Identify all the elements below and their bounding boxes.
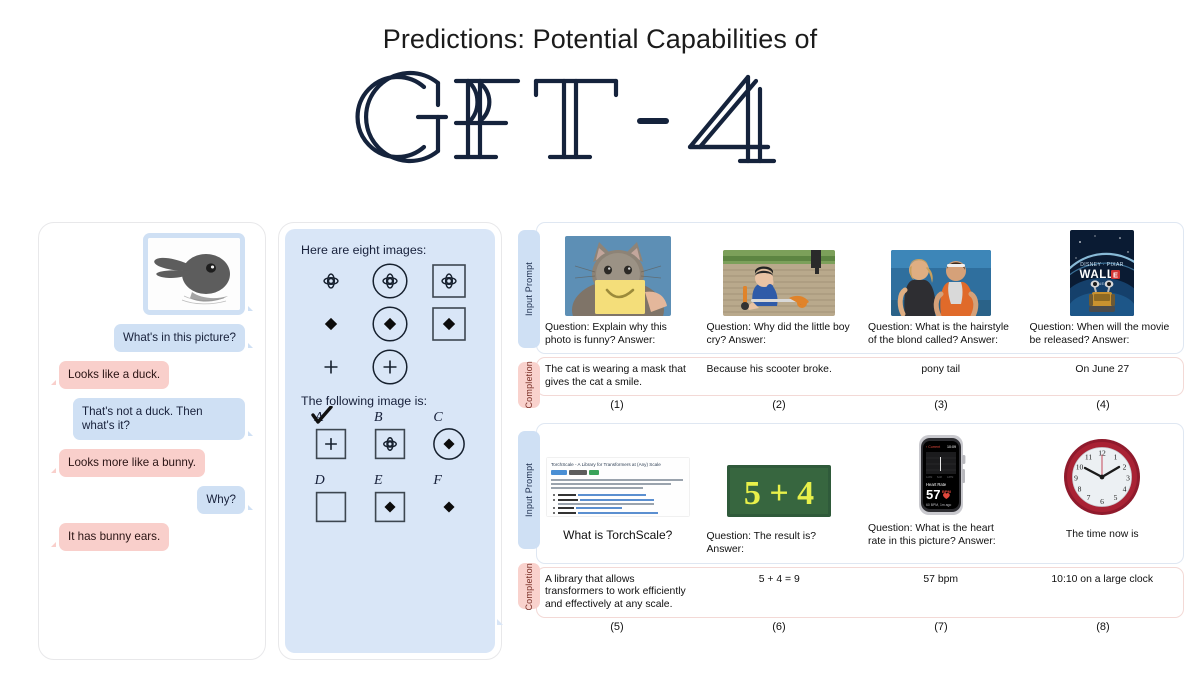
prompt-row: TorchScale - A Library for Transformers … [536,423,1184,563]
example-numbers-row: (1) (2) (3) (4) [536,397,1184,411]
example-number: (3) [860,397,1022,411]
example-number: (8) [1022,619,1184,633]
completion-label: Completion [524,563,534,611]
svg-text:2: 2 [1123,463,1127,472]
matrix-cell [370,302,410,345]
svg-text:4: 4 [1123,485,1127,494]
example-cell: ‹ Current 10:09 12AM6AM12PM Heart Rate [860,424,1022,562]
svg-text:3: 3 [1126,474,1130,483]
input-prompt-label: Input Prompt [524,463,534,517]
chat-message-bot: Looks more like a bunny. [59,449,205,477]
thumbnail-slot: ‹ Current 10:09 12AM6AM12PM Heart Rate [868,431,1014,517]
wall-e-movie-poster-image: DISNEY · PIXAR WALL E JUNE 27 [1070,230,1134,316]
prompt-text: Question: Why did the little boy cry? An… [707,322,853,347]
matrix-option-e[interactable]: E [372,473,408,530]
prompt-text: The time now is [1030,529,1176,542]
page-title: Predictions: Potential Capabilities of [0,0,1200,55]
example-cell: TorchScale - A Library for Transformers … [537,424,699,562]
matrix-options-row-1: ABC [301,410,479,467]
watch-bpm-value: 57 [926,487,940,502]
option-letter: A [315,410,349,426]
svg-text:12PM: 12PM [947,476,953,479]
prompt-text: Question: What is the heart rate in this… [868,523,1014,548]
cat-with-smiley-note-image [565,236,671,316]
red-wall-clock-image: 12 1 2 3 4 5 6 7 8 9 10 [1062,437,1142,517]
svg-text:E: E [1113,270,1118,279]
matrix-cell [311,345,351,388]
chat-message-bot: Looks like a duck. [59,361,169,389]
example-number: (7) [860,619,1022,633]
thumbnail-slot [707,230,853,316]
example-cell: Question: Why did the little boy cry? An… [699,223,861,353]
completion-row: The cat is wearing a mask that gives the… [536,357,1184,396]
example-cell: Question: Explain why this photo is funn… [537,223,699,353]
matrix-question-label: The following image is: [301,394,479,408]
svg-text:6AM: 6AM [937,476,942,479]
watch-time: 10:09 [947,445,956,449]
completion-text: On June 27 [1022,358,1184,395]
example-cell: DISNEY · PIXAR WALL E JUNE 27 [1022,223,1184,353]
thumbnail-slot: DISNEY · PIXAR WALL E JUNE 27 [1030,230,1176,316]
svg-text:WALL: WALL [1080,269,1115,281]
matrix-cell [311,302,351,345]
example-number: (1) [536,397,698,411]
svg-text:12AM: 12AM [926,476,932,479]
chat-message-user: What's in this picture? [114,324,245,352]
matrix-cell [429,259,469,302]
matrix-option-b[interactable]: B [372,410,408,467]
apple-watch-heart-rate-image: ‹ Current 10:09 12AM6AM12PM Heart Rate [907,433,975,517]
matrix-puzzle-panel: Here are eight images: The following ima… [278,222,502,660]
prompt-text: Question: What is the hairstyle of the b… [868,322,1014,347]
chat-message-bot: It has bunny ears. [59,523,169,551]
svg-text:10: 10 [1076,463,1084,472]
svg-text:9: 9 [1074,474,1078,483]
example-number: (5) [536,619,698,633]
completion-text: The cat is wearing a mask that gives the… [537,358,699,395]
completion-text: 57 bpm [860,568,1022,618]
prompt-text: Question: Explain why this photo is funn… [545,322,691,347]
watch-app-label: ‹ Current [926,445,940,449]
option-letter: C [433,410,467,426]
completion-label: Completion [524,361,534,409]
example-cell: 5 + 4 Question: The result is? Answer: [699,424,861,562]
svg-text:DISNEY · PIXAR: DISNEY · PIXAR [1080,262,1124,268]
completion-text: A library that allows transformers to wo… [537,568,699,618]
prompt-text: Question: When will the movie be release… [1030,322,1176,347]
watch-subtext: 60 BPM, 1m ago [926,503,951,507]
matrix-options-row-2: DEF [301,473,479,530]
svg-text:6: 6 [1100,497,1104,506]
example-cell: Question: What is the hairstyle of the b… [860,223,1022,353]
gpt4-logo [0,59,1200,174]
prompt-row: Question: Explain why this photo is funn… [536,222,1184,354]
svg-text:11: 11 [1085,453,1093,462]
duck-rabbit-illusion-image [148,238,240,310]
completion-row: A library that allows transformers to wo… [536,567,1184,619]
matrix-option-d[interactable]: D [313,473,349,530]
option-letter: E [374,473,408,489]
example-cell: 12 1 2 3 4 5 6 7 8 9 10 [1022,424,1184,562]
svg-text:5: 5 [1114,493,1118,502]
svg-text:7: 7 [1087,493,1091,502]
example-block-2: Input Prompt Completion TorchScale - A L… [518,423,1184,633]
chat-message-image [143,233,245,315]
matrix-cell [370,345,410,388]
matrix-bubble: Here are eight images: The following ima… [285,229,495,653]
torchscale-title: TorchScale - A Library for Transformers … [551,462,661,467]
matrix-cell [311,259,351,302]
chat-panel: What's in this picture? Looks like a duc… [38,222,266,660]
example-numbers-row: (5) (6) (7) (8) [536,619,1184,633]
matrix-option-c[interactable]: C [431,410,467,467]
completion-text: Because his scooter broke. [699,358,861,395]
option-letter: D [315,473,349,489]
watch-bpm-unit: BPM [942,489,952,494]
matrix-intro-label: Here are eight images: [301,243,479,257]
thumbnail-slot [868,230,1014,316]
thumbnail-slot: 12 1 2 3 4 5 6 7 8 9 10 [1030,431,1176,517]
blackboard-equation: 5 + 4 [744,475,814,512]
boy-crying-next-to-scooter-image [723,250,835,316]
completion-text: 10:10 on a large clock [1022,568,1184,618]
input-prompt-tab: Input Prompt [518,230,540,348]
matrix-option-a[interactable]: A [313,410,349,467]
completion-text: 5 + 4 = 9 [699,568,861,618]
completion-tab: Completion [518,563,540,609]
matrix-cell [370,259,410,302]
svg-text:8: 8 [1078,485,1082,494]
chat-message-user: Why? [197,486,245,514]
two-women-tennis-ponytail-image [891,250,991,316]
examples-panel: Input Prompt Completion [518,222,1184,667]
matrix-cell [429,302,469,345]
thumbnail-slot: TorchScale - A Library for Transformers … [545,431,691,517]
example-number: (4) [1022,397,1184,411]
thumbnail-slot [545,230,691,316]
content-area: What's in this picture? Looks like a duc… [0,222,1200,667]
matrix-shape-grid [301,259,479,388]
torchscale-readme-screenshot-image: TorchScale - A Library for Transformers … [546,457,690,517]
example-number: (2) [698,397,860,411]
example-block-1: Input Prompt Completion [518,222,1184,411]
svg-text:1: 1 [1114,453,1118,462]
example-number: (6) [698,619,860,633]
completion-tab: Completion [518,362,540,408]
thumbnail-slot: 5 + 4 [707,431,853,517]
option-letter: F [433,473,467,489]
input-prompt-tab: Input Prompt [518,431,540,549]
prompt-text: What is TorchScale? [545,529,691,542]
blackboard-five-plus-four-image: 5 + 4 [727,465,831,517]
prompt-text: Question: The result is? Answer: [707,531,853,556]
option-letter: B [374,410,408,426]
completion-text: pony tail [860,358,1022,395]
input-prompt-label: Input Prompt [524,262,534,316]
matrix-option-f[interactable]: F [431,473,467,530]
chat-message-user: That's not a duck. Then what's it? [73,398,245,440]
